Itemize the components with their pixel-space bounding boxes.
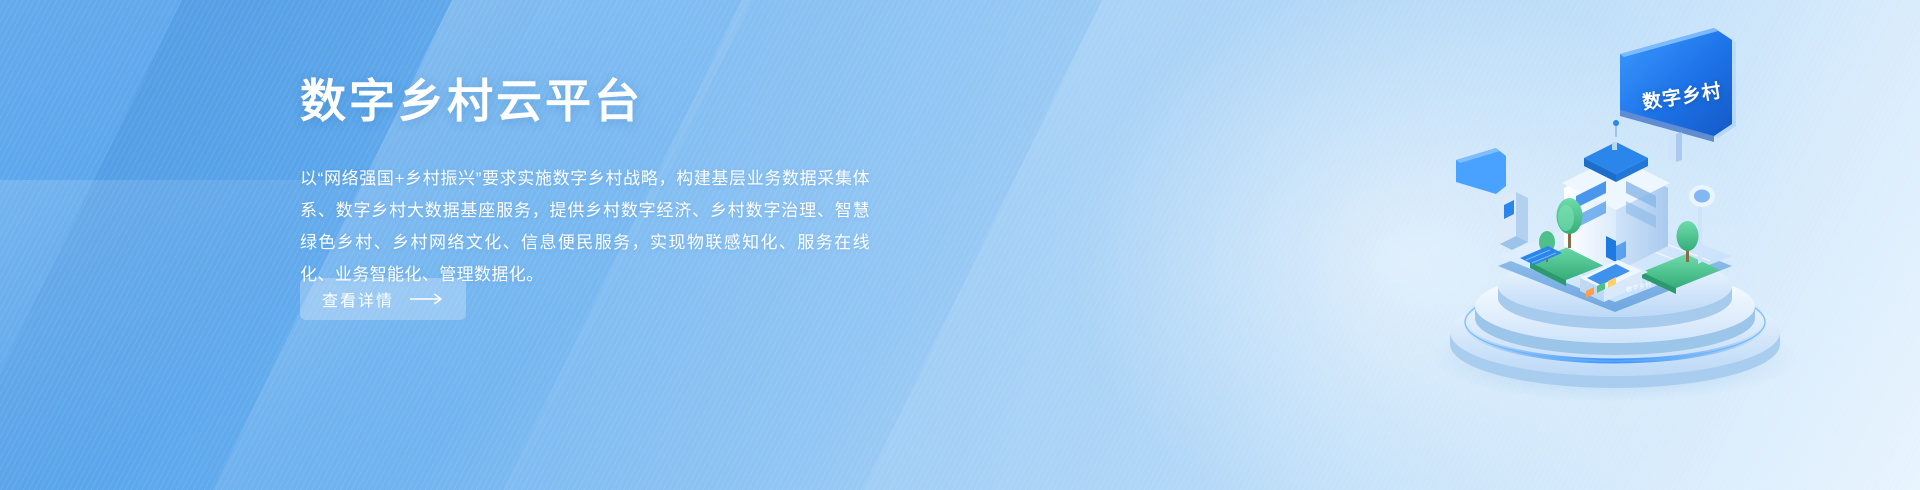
- arrow-right-icon: [410, 293, 444, 305]
- view-details-button[interactable]: 查看详情: [300, 278, 466, 320]
- page-title: 数字乡村云平台: [300, 72, 643, 130]
- digital-village-illustration: 数字乡村 数字乡村: [1380, 10, 1850, 410]
- view-details-label: 查看详情: [322, 287, 394, 311]
- hero-description: 以“网络强国+乡村振兴”要求实施数字乡村战略，构建基层业务数据采集体系、数字乡村…: [300, 163, 870, 291]
- hero-banner: 数字乡村云平台 以“网络强国+乡村振兴”要求实施数字乡村战略，构建基层业务数据采…: [0, 0, 1920, 490]
